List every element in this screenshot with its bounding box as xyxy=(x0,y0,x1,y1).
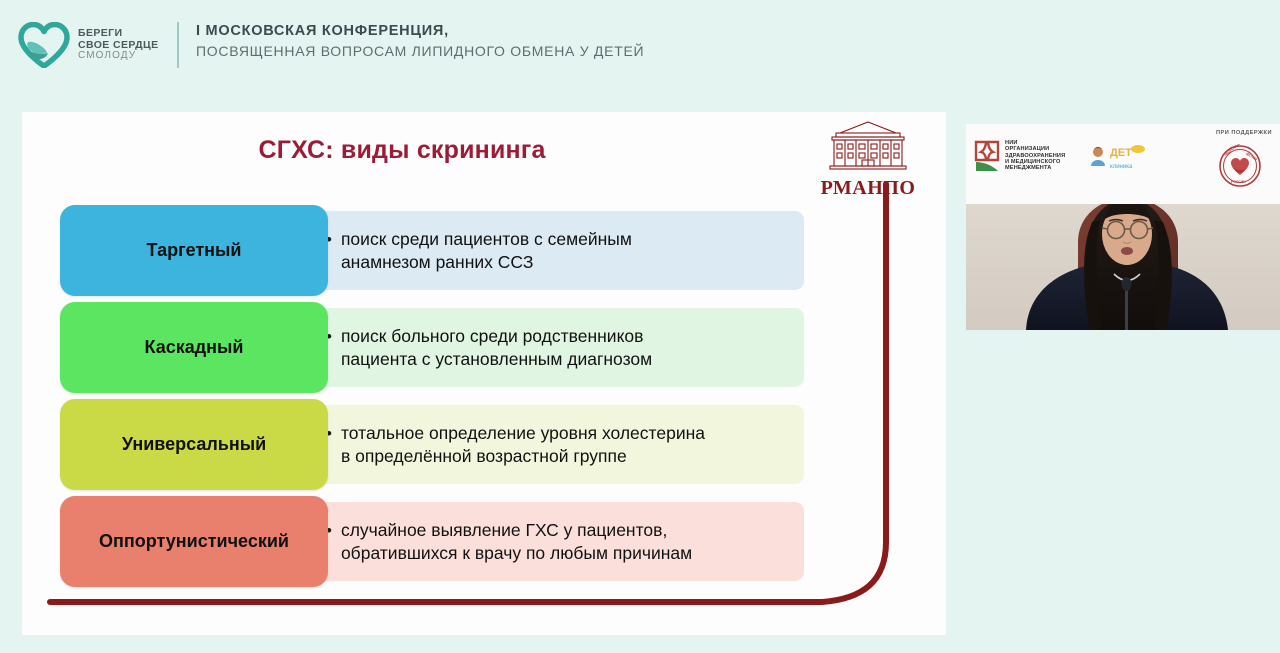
niio-line-3: ЗДРАВООХРАНЕНИЯ xyxy=(1005,153,1065,159)
row-description-text: поиск среди пациентов с семейным анамнез… xyxy=(341,228,632,274)
chip-label: Универсальный xyxy=(122,434,266,455)
speaker-video-panel[interactable]: НИИ ОРГАНИЗАЦИИ ЗДРАВООХРАНЕНИЯ И МЕДИЦИ… xyxy=(966,124,1280,330)
row-description-panel: • тотальное определение уровня холестери… xyxy=(304,405,804,484)
svg-text:ЗДОРОВЬЕ: ЗДОРОВЬЕ xyxy=(1223,144,1241,157)
niio-logo: НИИ ОРГАНИЗАЦИИ ЗДРАВООХРАНЕНИЯ И МЕДИЦИ… xyxy=(974,140,1065,174)
chip-label: Оппортунистический xyxy=(99,531,289,552)
header-divider xyxy=(177,22,179,68)
screening-type-chip-targeted[interactable]: Таргетный xyxy=(60,205,328,296)
heart-hand-icon xyxy=(18,22,70,68)
screening-type-chip-opportunistic[interactable]: Оппортунистический xyxy=(60,496,328,587)
row-description-text: поиск больного среди родственников пацие… xyxy=(341,325,652,371)
row-description-panel: • поиск среди пациентов с семейным анамн… xyxy=(304,211,804,290)
niio-line-5: МЕНЕДЖМЕНТА xyxy=(1005,165,1065,171)
brand-line-3: СМОЛОДУ xyxy=(78,51,158,62)
row-description-panel: • поиск больного среди родственников пац… xyxy=(304,308,804,387)
brand-logo: БЕРЕГИ СВОЕ СЕРДЦЕ СМОЛОДУ xyxy=(18,18,168,72)
list-item: • поиск среди пациентов с семейным анамн… xyxy=(22,205,946,296)
screen-root: БЕРЕГИ СВОЕ СЕРДЦЕ СМОЛОДУ I МОСКОВСКАЯ … xyxy=(0,0,1280,653)
book-leaf-logo-icon xyxy=(974,140,1000,174)
video-sponsor-banner: НИИ ОРГАНИЗАЦИИ ЗДРАВООХРАНЕНИЯ И МЕДИЦИ… xyxy=(966,124,1280,204)
list-item: • поиск больного среди родственников пац… xyxy=(22,302,946,393)
screening-type-chip-universal[interactable]: Универсальный xyxy=(60,399,328,490)
screening-types-list: • поиск среди пациентов с семейным анамн… xyxy=(22,205,946,593)
heart-hands-seal-icon: ЗДОРОВЬЕ ДЕТЯМ РОССИИ xyxy=(1218,144,1262,188)
conference-title-sub: ПОСВЯЩЕННАЯ ВОПРОСАМ ЛИПИДНОГО ОБМЕНА У … xyxy=(196,43,644,59)
row-description-text: случайное выявление ГХС у пациентов, обр… xyxy=(341,519,692,565)
rmanpo-abbr: РМАНПО xyxy=(812,177,924,200)
list-item: • случайное выявление ГХС у пациентов, о… xyxy=(22,496,946,587)
svg-text:клиника: клиника xyxy=(1110,164,1133,170)
conference-header: БЕРЕГИ СВОЕ СЕРДЦЕ СМОЛОДУ I МОСКОВСКАЯ … xyxy=(0,0,1280,90)
niio-wordmark: НИИ ОРГАНИЗАЦИИ ЗДРАВООХРАНЕНИЯ И МЕДИЦИ… xyxy=(1005,140,1065,171)
children-logo-icon: ДЕТ клиника xyxy=(1086,142,1146,176)
brand-wordmark: БЕРЕГИ СВОЕ СЕРДЦЕ СМОЛОДУ xyxy=(78,28,158,61)
screening-type-chip-cascade[interactable]: Каскадный xyxy=(60,302,328,393)
slide-title: СГХС: виды скрининга xyxy=(22,136,782,165)
chip-label: Каскадный xyxy=(145,337,244,358)
row-description-text: тотальное определение уровня холестерина… xyxy=(341,422,705,468)
conference-title-block: I МОСКОВСКАЯ КОНФЕРЕНЦИЯ, ПОСВЯЩЕННАЯ ВО… xyxy=(196,23,644,59)
chip-label: Таргетный xyxy=(147,240,242,261)
support-label: ПРИ ПОДДЕРЖКИ xyxy=(1216,130,1272,136)
row-description-panel: • случайное выявление ГХС у пациентов, о… xyxy=(304,502,804,581)
rmanpo-logo: РМАНПО xyxy=(812,120,924,200)
list-item: • тотальное определение уровня холестери… xyxy=(22,399,946,490)
classical-building-icon xyxy=(818,120,918,176)
svg-text:ДЕТ: ДЕТ xyxy=(1110,147,1132,159)
conference-title-main: I МОСКОВСКАЯ КОНФЕРЕНЦИЯ, xyxy=(196,23,644,39)
brand-line-1: БЕРЕГИ xyxy=(78,28,158,39)
presentation-slide: СГХС: виды скрининга xyxy=(22,112,946,635)
svg-text:РОССИИ: РОССИИ xyxy=(1231,180,1246,184)
